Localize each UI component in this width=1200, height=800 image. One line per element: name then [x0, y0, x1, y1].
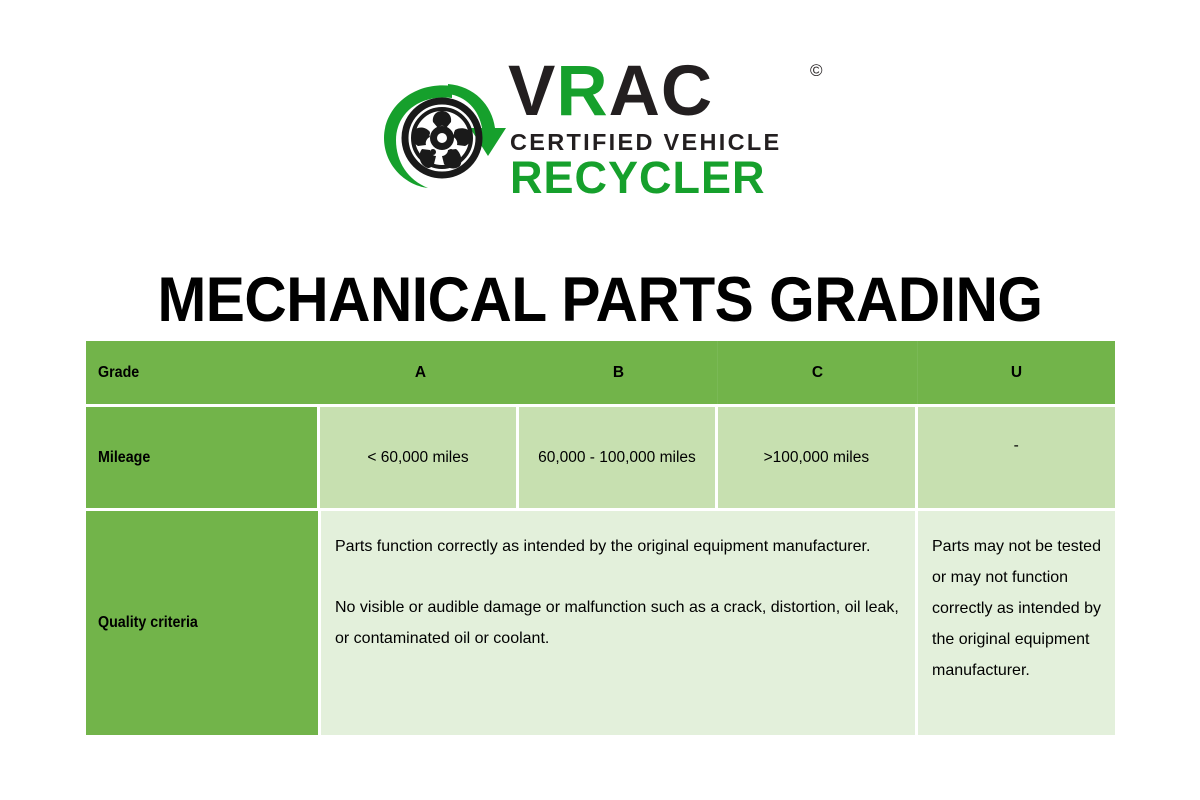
quality-u-paragraph: Parts may not be tested or may not funct…: [932, 531, 1101, 686]
mileage-cell-b: 60,000 - 100,000 miles: [519, 407, 715, 508]
row-label-mileage-text: Mileage: [98, 449, 150, 467]
header-label-u: U: [1011, 364, 1022, 382]
mileage-cell-a: < 60,000 miles: [320, 407, 515, 508]
table-header-row: Grade A B C U: [86, 341, 1115, 404]
mileage-cell-u: -: [918, 407, 1115, 508]
page-title: MECHANICAL PARTS GRADING: [42, 264, 1158, 336]
header-cell-grade: Grade: [86, 341, 321, 404]
header-cell-b: B: [520, 341, 717, 404]
header-label-grade: Grade: [98, 364, 139, 382]
quality-abc-paragraph-1: Parts function correctly as intended by …: [335, 531, 901, 562]
quality-cell-u: Parts may not be tested or may not funct…: [918, 511, 1115, 735]
mileage-value-a: < 60,000 miles: [367, 443, 468, 472]
header-label-b: B: [613, 364, 624, 382]
table-row-mileage: Mileage < 60,000 miles 60,000 - 100,000 …: [86, 407, 1115, 508]
mileage-cell-c: >100,000 miles: [718, 407, 914, 508]
recycling-wheel-icon: [378, 80, 506, 192]
header-label-a: A: [415, 364, 426, 382]
copyright-icon: ©: [810, 61, 823, 81]
row-label-quality-criteria: Quality criteria: [86, 511, 318, 735]
mechanical-parts-grading-table: Grade A B C U Mileage < 60,000 miles: [86, 341, 1115, 735]
mileage-value-u: -: [928, 431, 1105, 460]
quality-abc-paragraph-2: No visible or audible damage or malfunct…: [335, 592, 901, 654]
brand-letter-r: R: [556, 52, 608, 131]
vrac-logo: VRAC © CERTIFIED VEHICLE RECYCLER: [378, 55, 838, 205]
header-cell-c: C: [717, 341, 917, 404]
brand-letter-v: V: [508, 52, 556, 131]
logo-recycler-word: RECYCLER: [510, 155, 766, 201]
header-label-c: C: [812, 364, 823, 382]
brand-name: VRAC: [508, 57, 713, 127]
grading-poster: VRAC © CERTIFIED VEHICLE RECYCLER MECHAN…: [0, 0, 1200, 800]
brand-letters-ac: AC: [609, 52, 714, 131]
table-row-quality-criteria: Quality criteria Parts function correctl…: [86, 511, 1115, 735]
row-label-quality-criteria-text: Quality criteria: [98, 614, 198, 632]
mileage-value-c: >100,000 miles: [764, 443, 870, 472]
logo-wordmark: VRAC © CERTIFIED VEHICLE RECYCLER: [508, 55, 838, 205]
quality-cell-abc: Parts function correctly as intended by …: [321, 511, 915, 735]
row-label-mileage: Mileage: [86, 407, 317, 508]
header-cell-a: A: [321, 341, 520, 404]
mileage-value-b: 60,000 - 100,000 miles: [538, 443, 696, 472]
header-cell-u: U: [917, 341, 1115, 404]
